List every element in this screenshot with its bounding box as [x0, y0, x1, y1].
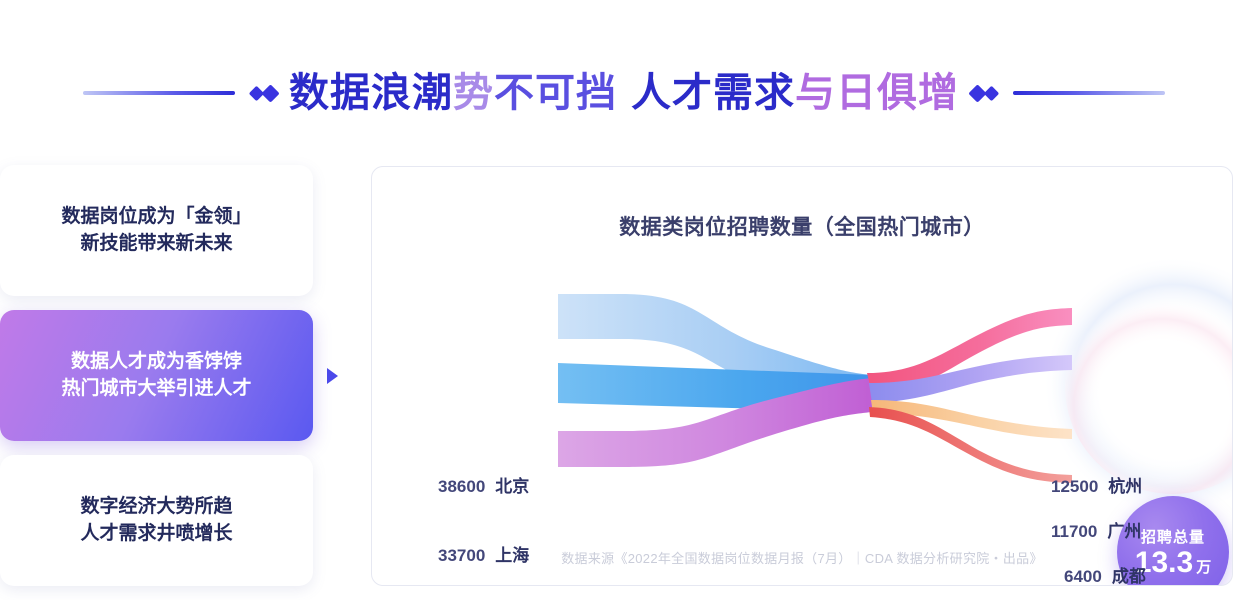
page-title: 数据浪潮势不可挡人才需求与日俱增	[277, 73, 971, 113]
sidebar: 数据岗位成为「金领」 新技能带来新未来 数据人才成为香饽饽 热门城市大举引进人才…	[0, 165, 313, 600]
source-value-beijing: 38600	[438, 477, 485, 496]
target-city-guangzhou: 广州	[1107, 522, 1141, 541]
title-seg-4: 人才需求	[631, 71, 795, 115]
source-city-beijing: 北京	[495, 477, 529, 496]
sidebar-item-2[interactable]: 数字经济大势所趋 人才需求井喷增长	[0, 455, 313, 586]
title-seg-5: 与日俱增	[795, 71, 959, 115]
target-city-chengdu: 成都	[1112, 567, 1146, 586]
title-rule-right	[1013, 91, 1165, 95]
title-rule-left	[83, 91, 235, 95]
target-city-hangzhou: 杭州	[1108, 477, 1142, 496]
total-label: 招聘总量	[1141, 526, 1205, 547]
sidebar-item-1[interactable]: 数据人才成为香饽饽 热门城市大举引进人才	[0, 310, 313, 441]
target-label-guangzhou: 11700广州	[1051, 517, 1141, 542]
title-seg-1: 势	[453, 71, 494, 115]
source-label-beijing: 38600北京	[438, 472, 529, 497]
chart-source-footnote: 数据来源《2022年全国数据岗位数据月报（7月）｜CDA 数据分析研究院・出品》	[372, 548, 1232, 567]
sidebar-item-label: 数据岗位成为「金领」 新技能带来新未来	[61, 204, 251, 258]
title-seg-2: 不可挡	[494, 71, 617, 115]
title-seg-0: 数据浪潮	[289, 71, 453, 115]
diamond-left-icon	[251, 87, 277, 100]
target-value-guangzhou: 11700	[1051, 522, 1097, 541]
target-label-hangzhou: 12500杭州	[1051, 472, 1142, 497]
target-value-hangzhou: 12500	[1051, 477, 1098, 496]
chart-panel: 数据类岗位招聘数量（全国热门城市）	[371, 166, 1233, 586]
active-item-arrow-icon	[327, 368, 338, 384]
sidebar-item-0[interactable]: 数据岗位成为「金领」 新技能带来新未来	[0, 165, 313, 296]
sidebar-item-label: 数字经济大势所趋 人才需求井喷增长	[80, 494, 232, 548]
page-title-row: 数据浪潮势不可挡人才需求与日俱增	[0, 62, 1248, 124]
target-value-chengdu: 6400	[1064, 567, 1102, 586]
sidebar-item-label: 数据人才成为香饽饽 热门城市大举引进人才	[61, 349, 251, 403]
diamond-right-icon	[971, 87, 997, 100]
